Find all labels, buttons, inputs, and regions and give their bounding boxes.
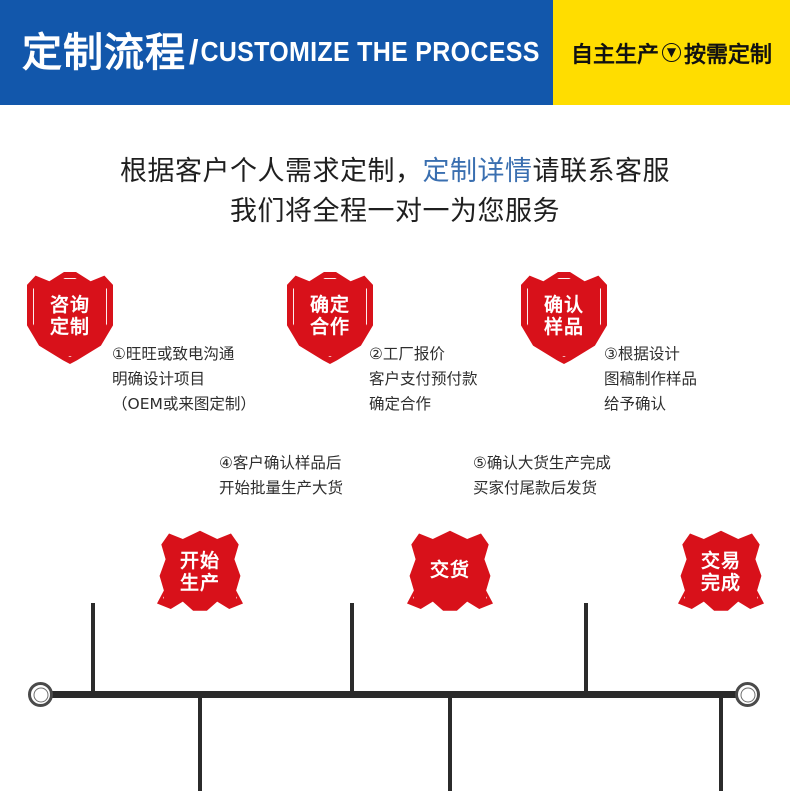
subtitle-block: 根据客户个人需求定制，定制详情请联系客服 我们将全程一对一为您服务 bbox=[0, 152, 790, 232]
milestone-badge-label: 交货 bbox=[407, 528, 493, 620]
step-line-1: ④客户确认样品后 bbox=[219, 451, 343, 476]
process-timeline: 咨询 定制 确定 合作 确认 样品 ①旺旺或致电沟通 明确设计项目 （OEM或来… bbox=[0, 258, 790, 647]
milestone-badge-label: 交易 完成 bbox=[678, 528, 764, 620]
step-line-1: ②工厂报价 bbox=[369, 342, 478, 367]
step-line-3: 确定合作 bbox=[369, 392, 478, 417]
connector-bottom-1 bbox=[198, 691, 202, 791]
step-line-2: 明确设计项目 bbox=[112, 367, 256, 392]
step-line-3: （OEM或来图定制） bbox=[112, 392, 256, 417]
milestone-badge-label: 确定 合作 bbox=[287, 272, 373, 364]
step-line-3: 给予确认 bbox=[604, 392, 697, 417]
milestone-badge-confirm-sample[interactable]: 确认 样品 bbox=[521, 272, 607, 364]
title-separator: / bbox=[189, 36, 198, 70]
connector-bottom-3 bbox=[719, 691, 723, 791]
chevron-down-icon: ▼ bbox=[662, 43, 681, 62]
timeline-axis bbox=[38, 691, 748, 698]
milestone-badge-transaction-complete[interactable]: 交易 完成 bbox=[678, 528, 764, 620]
connector-bottom-2 bbox=[448, 691, 452, 791]
milestone-badge-label: 咨询 定制 bbox=[27, 272, 113, 364]
subtitle-line-1-part-b: 请联系客服 bbox=[533, 156, 671, 187]
tagline-left: 自主生产 bbox=[571, 37, 659, 69]
step-line-2: 客户支付预付款 bbox=[369, 367, 478, 392]
timeline-end-node bbox=[735, 682, 760, 707]
header-tagline: 自主生产 ▼ 按需定制 bbox=[571, 37, 772, 69]
page-title-cn: 定制流程 bbox=[22, 33, 186, 73]
badge-line-2: 生产 bbox=[180, 572, 220, 594]
badge-line-1: 交货 bbox=[430, 559, 470, 581]
page-header: 定制流程 / CUSTOMIZE THE PROCESS 自主生产 ▼ 按需定制 bbox=[0, 0, 790, 105]
connector-top-2 bbox=[350, 603, 354, 695]
milestone-badge-consult[interactable]: 咨询 定制 bbox=[27, 272, 113, 364]
milestone-badge-label: 确认 样品 bbox=[521, 272, 607, 364]
badge-line-2: 合作 bbox=[310, 316, 350, 338]
subtitle-line-2: 我们将全程一对一为您服务 bbox=[0, 192, 790, 232]
timeline-start-node bbox=[28, 682, 53, 707]
badge-line-1: 交易 bbox=[701, 550, 741, 572]
step-description-1: ①旺旺或致电沟通 明确设计项目 （OEM或来图定制） bbox=[112, 342, 256, 417]
step-description-5: ⑤确认大货生产完成 买家付尾款后发货 bbox=[473, 451, 611, 501]
step-line-1: ③根据设计 bbox=[604, 342, 697, 367]
badge-line-1: 确认 bbox=[544, 294, 584, 316]
milestone-badge-start-production[interactable]: 开始 生产 bbox=[157, 528, 243, 620]
milestone-badge-label: 开始 生产 bbox=[157, 528, 243, 620]
subtitle-highlight: 定制详情 bbox=[423, 156, 533, 187]
subtitle-line-1-part-a: 根据客户个人需求定制， bbox=[120, 156, 423, 187]
header-tagline-block: 自主生产 ▼ 按需定制 bbox=[553, 0, 790, 105]
step-line-1: ①旺旺或致电沟通 bbox=[112, 342, 256, 367]
page-title-en: CUSTOMIZE THE PROCESS bbox=[200, 39, 539, 67]
step-line-2: 图稿制作样品 bbox=[604, 367, 697, 392]
connector-top-3 bbox=[584, 603, 588, 695]
step-line-1: ⑤确认大货生产完成 bbox=[473, 451, 611, 476]
header-title-block: 定制流程 / CUSTOMIZE THE PROCESS bbox=[0, 0, 553, 105]
badge-line-2: 样品 bbox=[544, 316, 584, 338]
milestone-badge-delivery[interactable]: 交货 bbox=[407, 528, 493, 620]
badge-line-1: 开始 bbox=[180, 550, 220, 572]
badge-line-1: 咨询 bbox=[50, 294, 90, 316]
milestone-badge-confirm-cooperation[interactable]: 确定 合作 bbox=[287, 272, 373, 364]
step-line-2: 买家付尾款后发货 bbox=[473, 476, 611, 501]
badge-line-2: 定制 bbox=[50, 316, 90, 338]
step-description-2: ②工厂报价 客户支付预付款 确定合作 bbox=[369, 342, 478, 417]
step-description-3: ③根据设计 图稿制作样品 给予确认 bbox=[604, 342, 697, 417]
subtitle-line-1: 根据客户个人需求定制，定制详情请联系客服 bbox=[0, 152, 790, 192]
step-line-2: 开始批量生产大货 bbox=[219, 476, 343, 501]
badge-line-2: 完成 bbox=[701, 572, 741, 594]
connector-top-1 bbox=[91, 603, 95, 695]
step-description-4: ④客户确认样品后 开始批量生产大货 bbox=[219, 451, 343, 501]
tagline-right: 按需定制 bbox=[684, 37, 772, 69]
badge-line-1: 确定 bbox=[310, 294, 350, 316]
